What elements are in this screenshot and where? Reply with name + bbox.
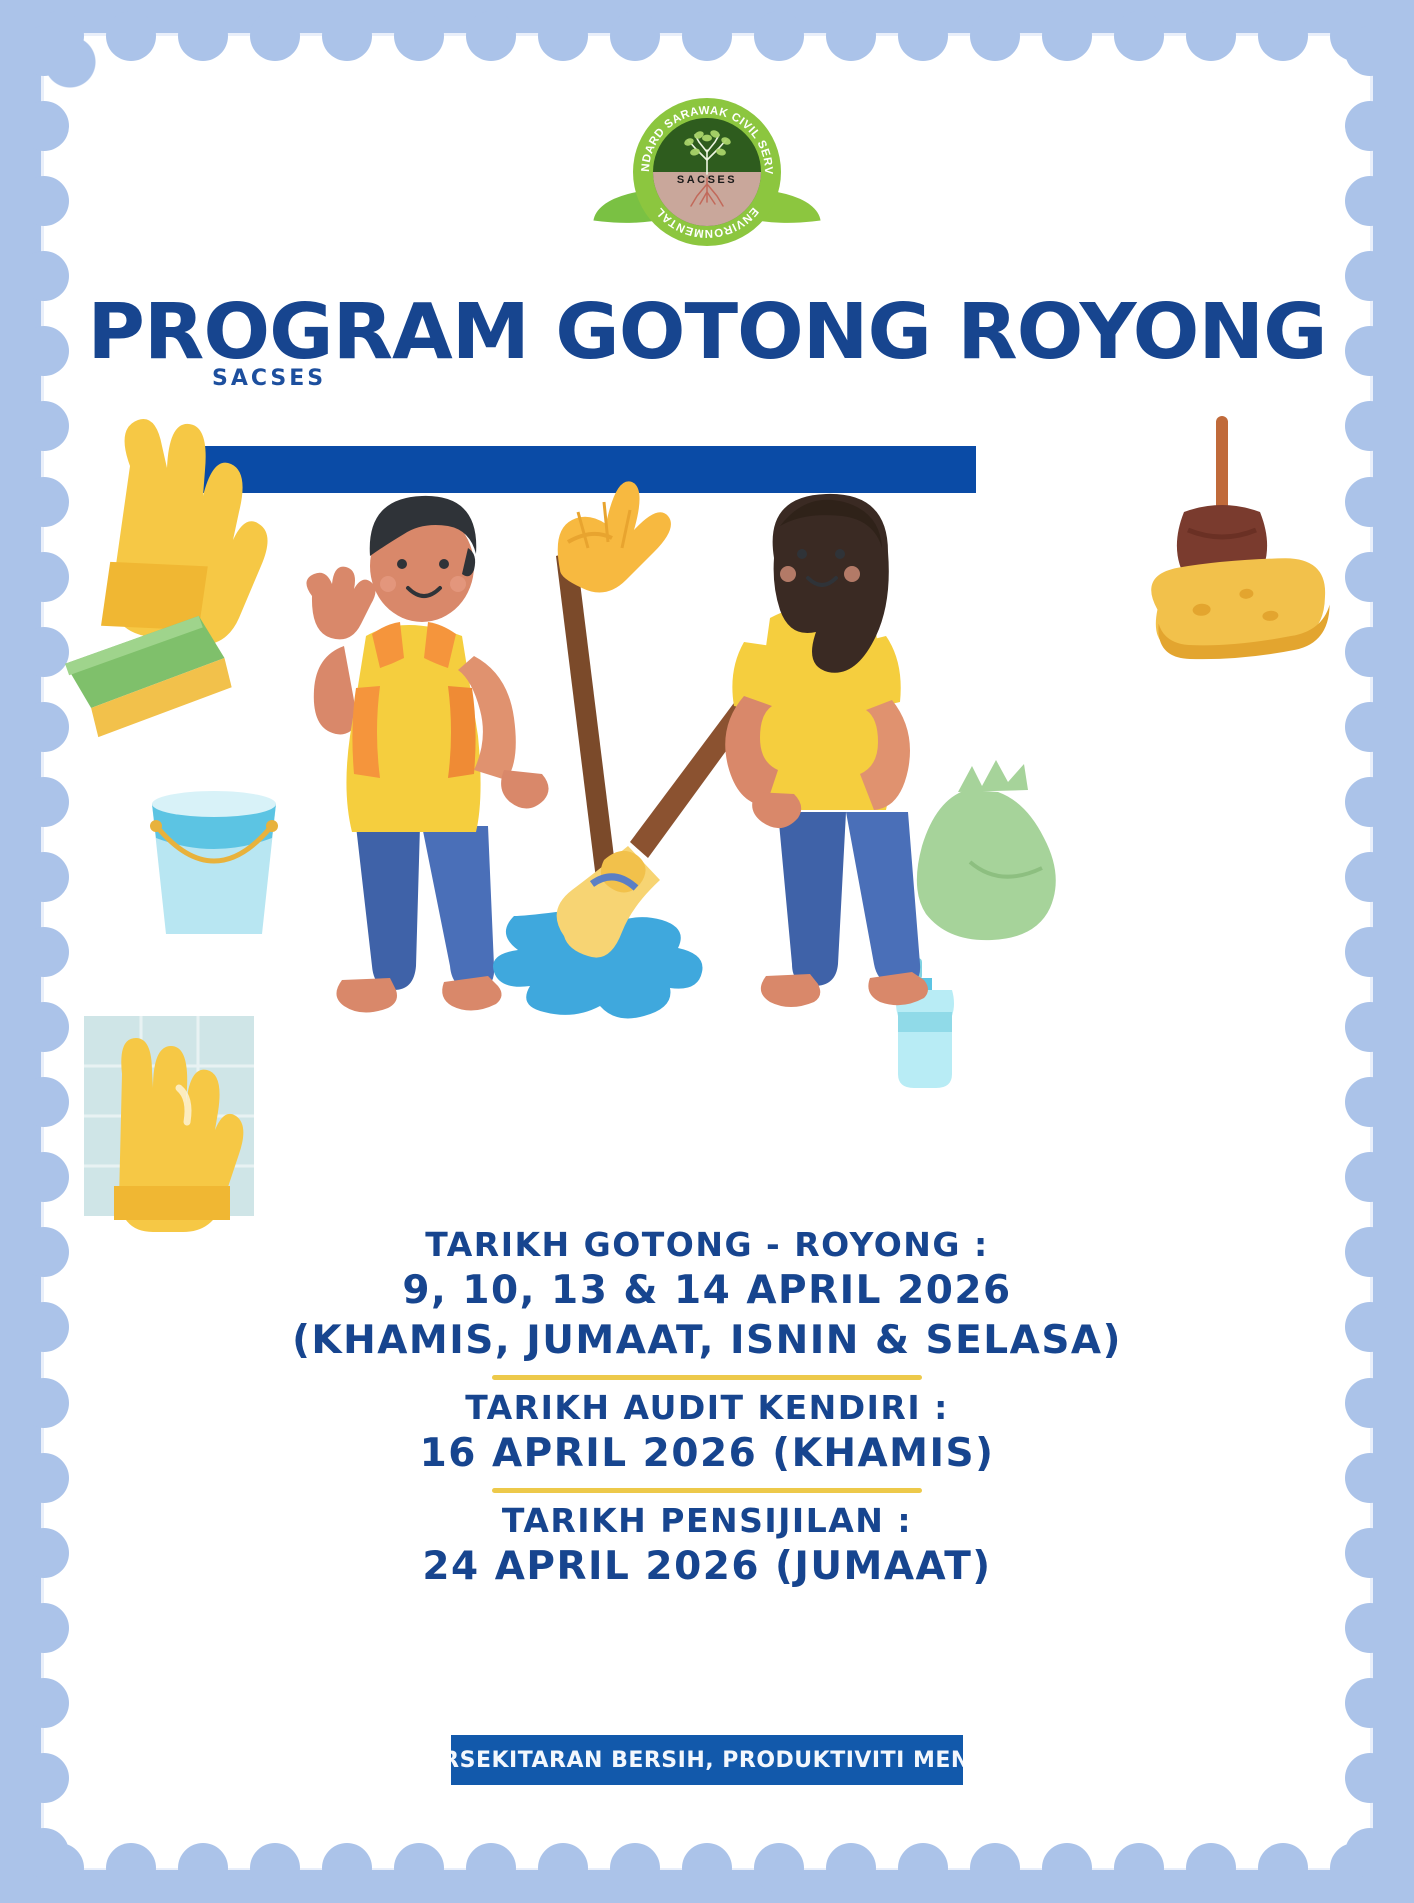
divider-1 — [492, 1375, 922, 1380]
audit-kendiri-date: 16 APRIL 2026 (KHAMIS) — [44, 1429, 1370, 1479]
gotong-royong-date: 9, 10, 13 & 14 APRIL 2026 — [44, 1266, 1370, 1316]
poster-root: STANDARD SARAWAK CIVIL SERVICE ENVIRONME… — [0, 0, 1414, 1903]
quote-banner: "PERSEKITARAN BERSIH, PRODUKTIVITI MENIN… — [451, 1735, 963, 1785]
illustration-stage — [44, 36, 1370, 1868]
quote-text: "PERSEKITARAN BERSIH, PRODUKTIVITI MENIN… — [451, 1748, 963, 1773]
poster-content: STANDARD SARAWAK CIVIL SERVICE ENVIRONME… — [44, 36, 1370, 1868]
trash-bag-icon — [917, 760, 1056, 940]
sponge-icon — [1149, 553, 1333, 665]
dates-block: TARIKH GOTONG - ROYONG : 9, 10, 13 & 14 … — [44, 1224, 1370, 1592]
bucket-icon — [150, 791, 278, 934]
pensijilan-label: TARIKH PENSIJILAN : — [44, 1500, 1370, 1542]
audit-kendiri-label: TARIKH AUDIT KENDIRI : — [44, 1387, 1370, 1429]
rubber-glove-tiles-icon — [84, 1016, 254, 1232]
rubber-glove-icon — [92, 419, 267, 645]
character-girl — [725, 494, 928, 1007]
divider-2 — [492, 1488, 922, 1493]
gotong-royong-days: (KHAMIS, JUMAAT, ISNIN & SELASA) — [44, 1316, 1370, 1366]
gotong-royong-label: TARIKH GOTONG - ROYONG : — [44, 1224, 1370, 1266]
pensijilan-date: 24 APRIL 2026 (JUMAAT) — [44, 1542, 1370, 1592]
